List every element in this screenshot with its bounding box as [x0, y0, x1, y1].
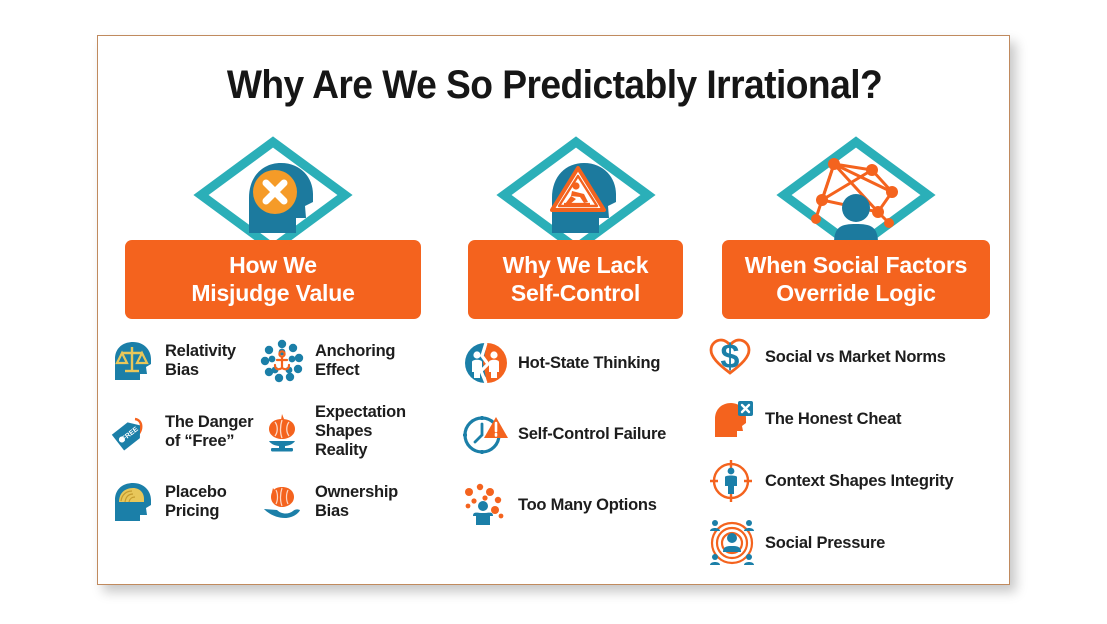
list-item[interactable]: Social Pressure — [708, 519, 1006, 567]
list-item-label: Social vs Market Norms — [765, 348, 946, 367]
header-line-1: How We — [229, 252, 317, 278]
free-price-tag-icon: FREE — [108, 408, 156, 456]
svg-text:$: $ — [721, 338, 740, 376]
list-item-label: The Danger of “Free” — [165, 413, 258, 451]
emblem-head-with-x — [108, 136, 438, 254]
label-line-1: Ownership — [315, 483, 398, 501]
network-over-person-diamond-icon — [772, 136, 940, 254]
slide-frame: Why Are We So Predictably Irrational? Ho… — [97, 35, 1010, 585]
head-with-x-circle-diamond-icon — [189, 136, 357, 254]
label-line-2: of “Free” — [165, 432, 234, 450]
list-item[interactable]: Hot-State Thinking — [461, 339, 698, 387]
anchor-surrounded-by-people-icon — [258, 337, 306, 385]
item-list-misjudge-value: Relativity Bias — [108, 337, 438, 526]
list-item[interactable]: Expectation Shapes Reality — [258, 403, 438, 460]
split-person-circle-icon — [461, 339, 509, 387]
head-with-x-badge-icon — [708, 395, 756, 443]
head-with-warning-triangle-diamond-icon — [492, 136, 660, 254]
label-line-2: Pricing — [165, 502, 219, 520]
label-line-2: Shapes Reality — [315, 422, 372, 459]
list-item[interactable]: Too Many Options — [461, 481, 698, 529]
header-line-1: When Social Factors — [745, 252, 967, 278]
person-with-social-rings-icon — [708, 519, 756, 567]
head-with-brain-icon — [108, 478, 156, 526]
header-banner-lack-self-control: Why We Lack Self-Control — [468, 240, 683, 319]
list-item[interactable]: The Honest Cheat — [708, 395, 1006, 443]
list-item[interactable]: Anchoring Effect — [258, 337, 438, 385]
list-item[interactable]: Ownership Bias — [258, 478, 438, 526]
column-lack-self-control: Why We Lack Self-Control — [453, 136, 698, 529]
label-line-2: Bias — [315, 502, 349, 520]
label-line-2: Effect — [315, 361, 359, 379]
list-item-label: The Honest Cheat — [765, 410, 901, 429]
label-line-1: The Danger — [165, 413, 253, 431]
emblem-head-with-warning — [453, 136, 698, 254]
emblem-network-over-person — [706, 136, 1006, 254]
header-line-2: Misjudge Value — [139, 279, 407, 307]
label-line-2: Bias — [165, 361, 199, 379]
label-line-1: Anchoring — [315, 342, 395, 360]
list-item-label: Context Shapes Integrity — [765, 472, 953, 491]
list-item-label: Anchoring Effect — [315, 342, 411, 380]
list-item[interactable]: Context Shapes Integrity — [708, 457, 1006, 505]
item-list-social-factors: $ Social vs Market Norms The Honest Chea… — [708, 333, 1006, 567]
person-in-crosshair-icon — [708, 457, 756, 505]
head-with-balance-scale-icon — [108, 337, 156, 385]
column-social-factors: When Social Factors Override Logic $ Soc… — [706, 136, 1006, 567]
person-juggling-options-icon — [461, 481, 509, 529]
list-item-label: Expectation Shapes Reality — [315, 403, 411, 460]
hand-holding-brain-icon — [258, 478, 306, 526]
header-line-2: Override Logic — [736, 279, 976, 307]
header-banner-misjudge-value: How We Misjudge Value — [125, 240, 421, 319]
header-line-2: Self-Control — [482, 279, 669, 307]
label-line-1: Expectation — [315, 403, 406, 421]
clock-with-warning-icon — [461, 410, 509, 458]
heart-with-dollar-icon: $ — [708, 333, 756, 381]
item-list-lack-self-control: Hot-State Thinking Self-Control Failure — [461, 339, 698, 529]
list-item[interactable]: $ Social vs Market Norms — [708, 333, 1006, 381]
list-item-label: Hot-State Thinking — [518, 354, 660, 373]
list-item-label: Ownership Bias — [315, 483, 411, 521]
header-line-1: Why We Lack — [503, 252, 649, 278]
list-item[interactable]: Placebo Pricing — [108, 478, 258, 526]
header-banner-social-factors: When Social Factors Override Logic — [722, 240, 990, 319]
label-line-1: Placebo — [165, 483, 227, 501]
list-item[interactable]: FREE The Danger of “Free” — [108, 403, 258, 460]
list-item-label: Relativity Bias — [165, 342, 258, 380]
columns-container: How We Misjudge Value — [98, 136, 1011, 586]
list-item[interactable]: Self-Control Failure — [461, 410, 698, 458]
list-item-label: Self-Control Failure — [518, 425, 666, 444]
list-item-label: Too Many Options — [518, 496, 657, 515]
page-title: Why Are We So Predictably Irrational? — [130, 63, 979, 108]
list-item[interactable]: Relativity Bias — [108, 337, 258, 385]
brain-on-pedestal-icon — [258, 408, 306, 456]
list-item-label: Placebo Pricing — [165, 483, 258, 521]
column-misjudge-value: How We Misjudge Value — [108, 136, 438, 526]
list-item-label: Social Pressure — [765, 534, 885, 553]
label-line-1: Relativity — [165, 342, 236, 360]
